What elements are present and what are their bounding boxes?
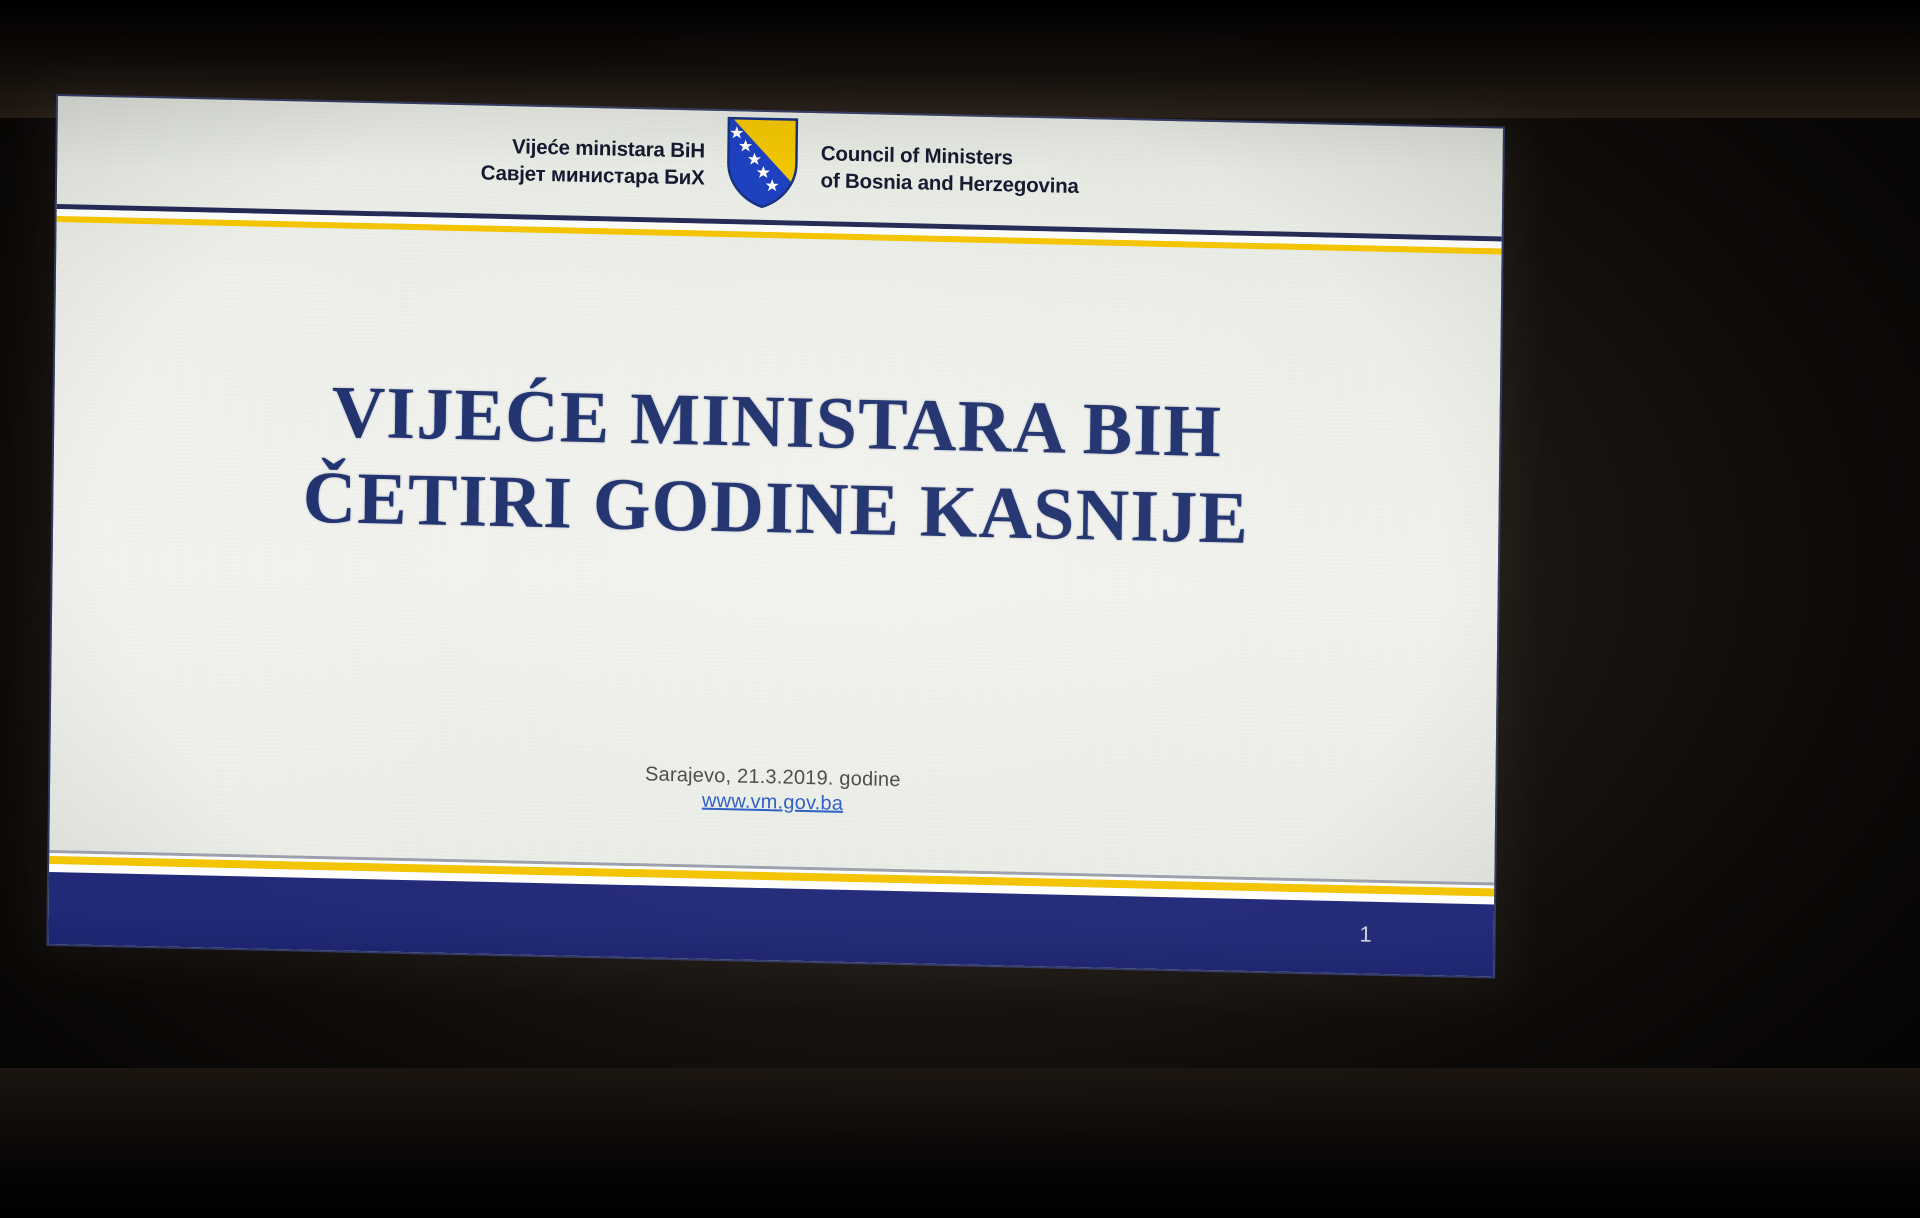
coat-of-arms-bosnia-herzegovina-icon bbox=[726, 116, 799, 210]
slide-title: VIJEĆE MINISTARA BIH ČETIRI GODINE KASNI… bbox=[302, 370, 1250, 563]
organization-name-english: Council of Ministers of Bosnia and Herze… bbox=[820, 140, 1079, 200]
website-link[interactable]: www.vm.gov.ba bbox=[702, 790, 843, 815]
organization-name-local: Vijeće ministara BiH Савјет министара Би… bbox=[481, 132, 705, 191]
organization-name-english-line2: of Bosnia and Herzegovina bbox=[820, 167, 1078, 200]
slide-page-number: 1 bbox=[1359, 921, 1372, 947]
slide-body: VIJEĆE MINISTARA BIH ČETIRI GODINE KASNI… bbox=[50, 228, 1502, 867]
wall-bottom bbox=[0, 1068, 1920, 1218]
slide-subtext-block: Sarajevo, 21.3.2019. godine www.vm.gov.b… bbox=[50, 750, 1496, 831]
organization-name-serbian-cyrillic: Савјет министара БиХ bbox=[481, 160, 705, 192]
presentation-slide: Vijeće ministara BiH Савјет министара Би… bbox=[48, 96, 1503, 977]
projected-slide-surface: Vijeće ministara BiH Савјет министара Би… bbox=[48, 96, 1503, 977]
